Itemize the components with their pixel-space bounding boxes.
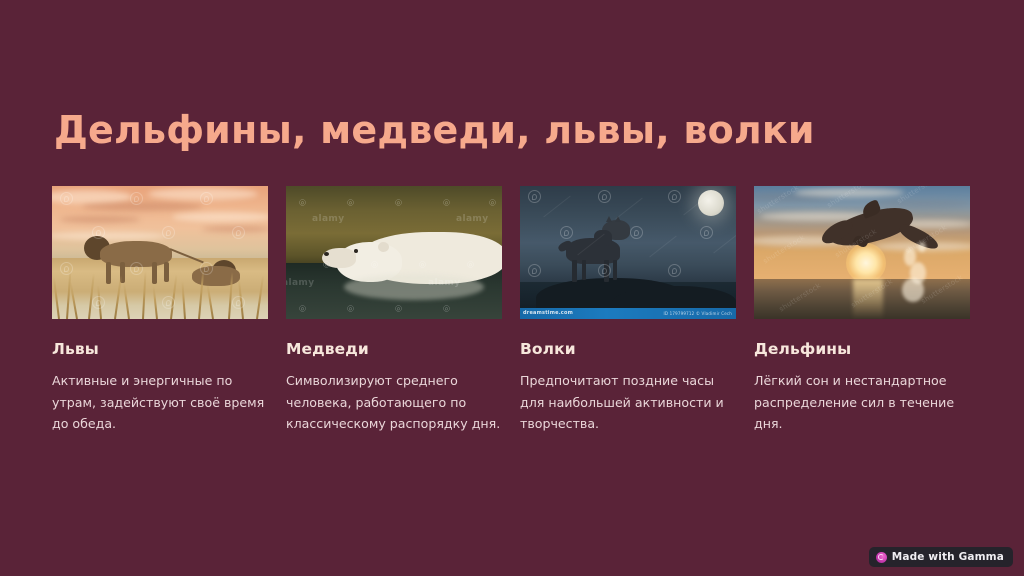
card-body-bears: Символизируют среднего человека, работаю… (286, 370, 502, 435)
lion-cloud (52, 232, 167, 240)
lion-figure (152, 262, 157, 284)
made-with-gamma-badge[interactable]: Made with Gamma (869, 547, 1013, 567)
card-body-dolphins: Лёгкий сон и нестандартное распределение… (754, 370, 970, 435)
made-with-gamma-label: Made with Gamma (892, 551, 1004, 563)
image-row: alamy alamy alamy alamy (52, 186, 972, 319)
wolf-figure (582, 260, 586, 280)
lion-cloud (148, 188, 258, 200)
card-heading-wolves: Волки (520, 340, 736, 358)
wolf-figure (613, 260, 617, 280)
polar-bear-swimming-photo: alamy alamy alamy alamy (286, 186, 502, 319)
water-splash (902, 278, 924, 302)
wolf-figure (572, 260, 577, 282)
card-heading-lions: Львы (52, 340, 268, 358)
dolphin-cloud (874, 200, 970, 208)
card-bears: Медведи Символизируют среднего человека,… (286, 340, 502, 435)
bear-figure (378, 242, 389, 252)
card-dolphins: Дельфины Лёгкий сон и нестандартное расп… (754, 340, 970, 435)
gamma-logo-icon (876, 552, 887, 563)
lion-cloud (202, 226, 268, 232)
bear-reflection (344, 274, 484, 300)
wolf-figure (594, 230, 612, 246)
card-heading-bears: Медведи (286, 340, 502, 358)
dolphin-jumping-sunset-photo: shutterstock shutterstock shutterstock s… (754, 186, 970, 319)
wolf-figure (615, 216, 621, 222)
water-splash (918, 242, 926, 252)
bear-figure (322, 248, 356, 268)
text-row: Львы Активные и энергичные по утрам, зад… (52, 340, 972, 435)
moon-icon (698, 190, 724, 216)
bear-figure (324, 252, 329, 256)
card-heading-dolphins: Дельфины (754, 340, 970, 358)
bear-figure (354, 249, 358, 253)
wolf-figure (606, 216, 612, 222)
lions-at-sunset-photo (52, 186, 268, 319)
sun-reflection (853, 279, 883, 319)
stock-footer-left: dreamstime.com (523, 310, 573, 316)
lion-cloud (172, 212, 268, 222)
lion-cloud (60, 216, 140, 223)
card-wolves: Волки Предпочитают поздние часы для наиб… (520, 340, 736, 435)
lion-figure (106, 262, 111, 284)
slide-canvas: Дельфины, медведи, львы, волки (0, 0, 1024, 576)
card-body-lions: Активные и энергичные по утрам, задейств… (52, 370, 268, 435)
card-lions: Львы Активные и энергичные по утрам, зад… (52, 340, 268, 435)
lion-cloud (82, 202, 202, 211)
stock-footer-bar: dreamstime.com ID 179799712 © Vladimir C… (520, 308, 736, 319)
dolphin-cloud (794, 188, 904, 197)
page-title: Дельфины, медведи, львы, волки (54, 108, 815, 152)
card-body-wolves: Предпочитают поздние часы для наибольшей… (520, 370, 736, 435)
lion-ground (52, 258, 268, 319)
wolf-on-rock-moonlight-photo: dreamstime.com ID 179799712 © Vladimir C… (520, 186, 736, 319)
stock-footer-right: ID 179799712 © Vladimir Cech (664, 311, 732, 316)
lion-figure (164, 262, 169, 282)
wolf-figure (604, 260, 609, 282)
